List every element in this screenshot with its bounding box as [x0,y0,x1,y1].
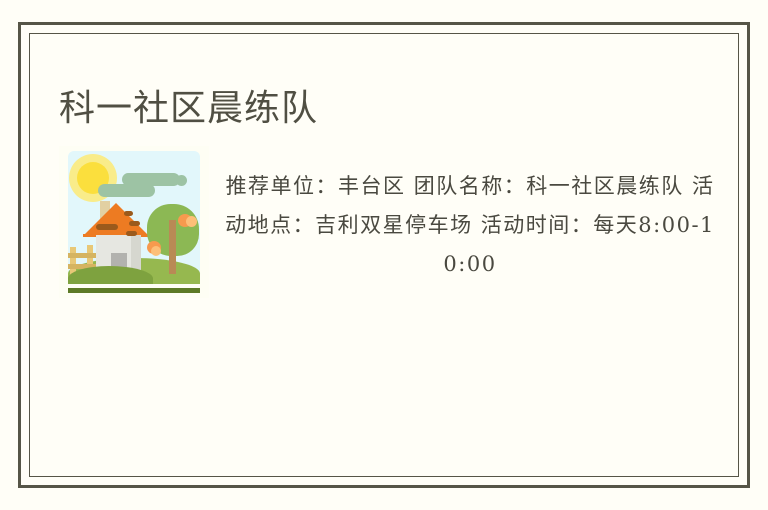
detail-line-recommender: 推荐单位：丰台区 [226,174,406,198]
article-body: 推荐单位：丰台区 团队名称：科一社区晨练队 活动地点：吉利双星停车场 活动时间：… [59,145,717,465]
roof-tile [96,224,118,230]
cloud-icon [98,184,155,197]
article-card-frame: 科一社区晨练队 [18,22,750,488]
page-title: 科一社区晨练队 [59,87,318,131]
house-roof [83,203,149,236]
detail-line-time: 活动时间：每天8:00-10:00 [443,213,715,276]
roof-tile [129,221,140,226]
countryside-house-illustration [59,146,209,298]
roof-tile [124,211,133,216]
cloud-dot-icon [176,175,187,186]
fence-rail [68,253,98,258]
tree-trunk [169,220,176,274]
tree-fruit [151,246,161,256]
ground-strip [68,288,200,293]
detail-line-team-name: 团队名称：科一社区晨练队 [414,174,684,198]
tree-fruit [186,216,197,227]
roof-tile [126,231,137,236]
